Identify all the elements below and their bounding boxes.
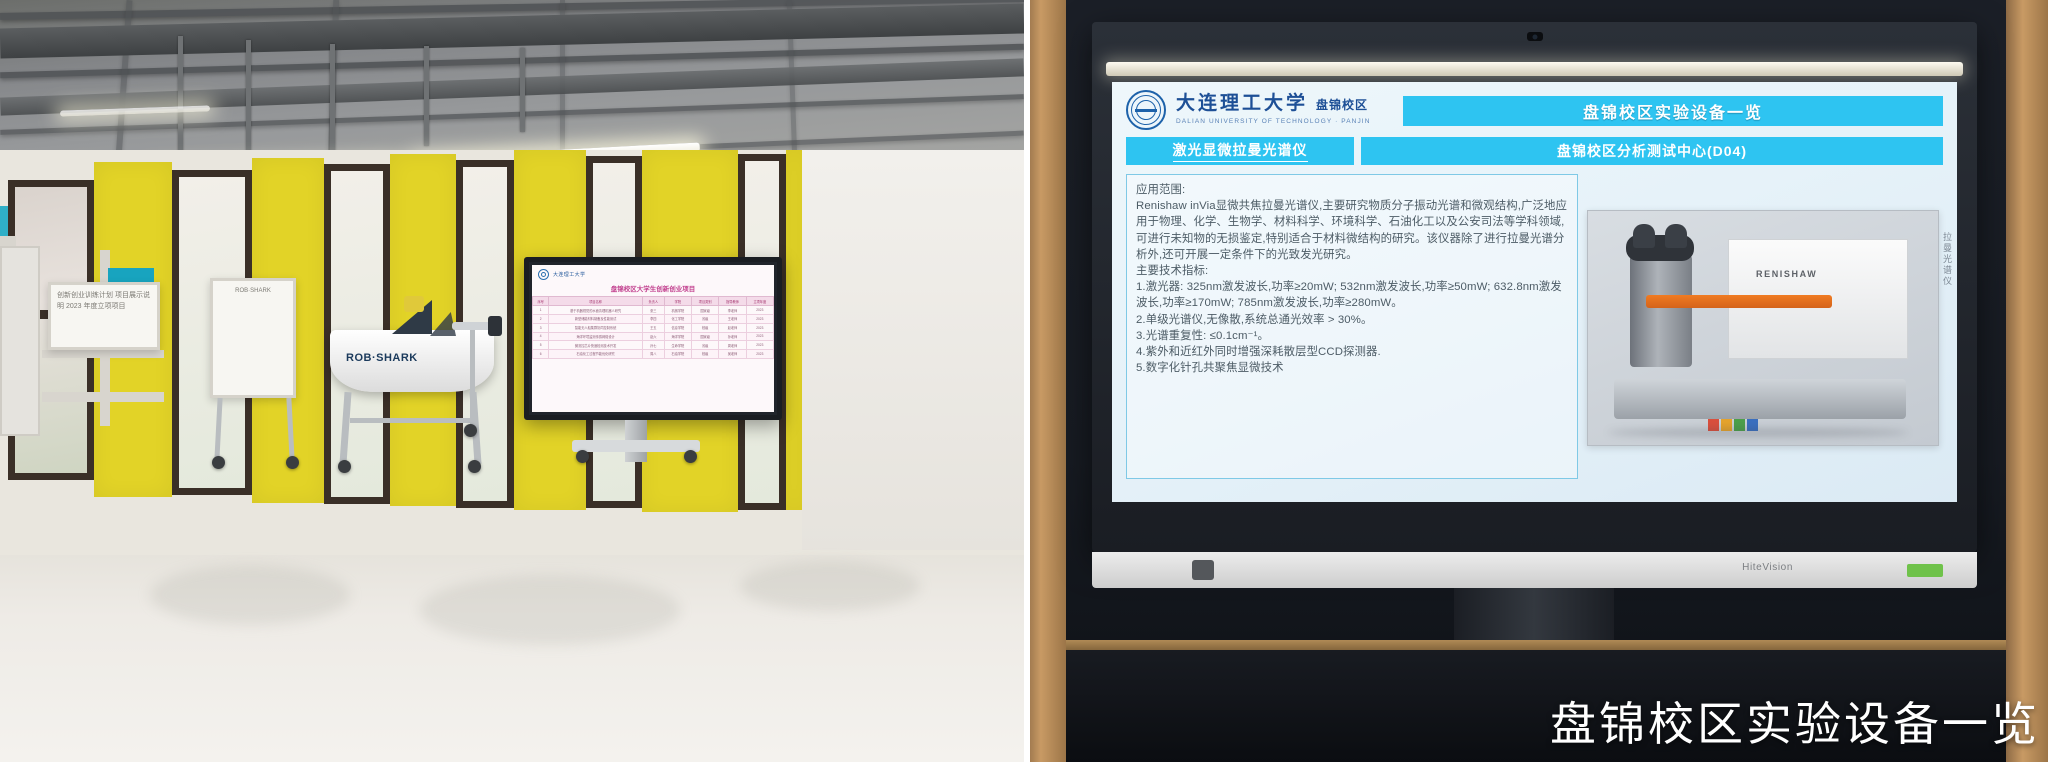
caster-wheel: [286, 456, 299, 469]
table-cell: 石油学院: [664, 350, 691, 359]
table-cell: 张三: [642, 306, 664, 315]
robot-boat-label: ROB·SHARK: [346, 352, 418, 364]
left-wall-display[interactable]: 大连理工大学 盘锦校区大学生创新创业项目 序号项目名称负责人学院项目类别指导教师…: [524, 257, 782, 420]
hanging-rod: [246, 40, 251, 164]
project-table-col: 项目类别: [692, 297, 719, 306]
table-row: 1基于机器视觉的水面清理机器人研究张三机械学院国家级李老师2023: [533, 306, 774, 315]
project-table-col: 负责人: [642, 297, 664, 306]
slide-title-text: 盘锦校区实验设备一览: [1583, 99, 1763, 123]
board-brand-label: HiteVision: [1742, 562, 1793, 573]
caster-wheel: [576, 450, 589, 463]
table-cell: 2023: [746, 350, 773, 359]
table-cell: 6: [533, 350, 549, 359]
table-cell: 吴老师: [719, 350, 746, 359]
table-row: 3智能无人船集群协同控制系统王五信息学院校级赵老师2023: [533, 323, 774, 332]
university-crest-icon: [1126, 90, 1166, 130]
left-display-title: 盘锦校区大学生创新创业项目: [532, 282, 774, 296]
status-indicator: [1907, 564, 1943, 577]
table-row: 6石油化工过程节能优化研究周八石油学院校级吴老师2023: [533, 350, 774, 359]
project-table-col: 项目名称: [549, 297, 643, 306]
table-cell: 2023: [746, 332, 773, 341]
table-cell: 国家级: [692, 332, 719, 341]
caster-wheel: [212, 456, 225, 469]
table-cell: 2023: [746, 323, 773, 332]
table-row: 5微流控芯片快速检测技术开发孙七生命学院省级周老师2023: [533, 341, 774, 350]
equipment-name-text: 激光显微拉曼光谱仪: [1173, 140, 1308, 162]
table-cell: 生命学院: [664, 341, 691, 350]
left-display-screen: 大连理工大学 盘锦校区大学生创新创业项目 序号项目名称负责人学院项目类别指导教师…: [532, 265, 774, 412]
location-banner: 盘锦校区分析测试中心(D04): [1361, 137, 1943, 165]
university-name-en: DALIAN UNIVERSITY OF TECHNOLOGY · PANJIN: [1176, 118, 1371, 125]
caption-right: 盘锦校区实验设备一览: [1550, 688, 2040, 754]
trolley-crossbar: [350, 418, 472, 423]
table-cell: 3: [533, 323, 549, 332]
cabinet: [0, 246, 40, 436]
table-cell: 孙老师: [719, 332, 746, 341]
project-table-col: 指导教师: [719, 297, 746, 306]
presentation-slide[interactable]: 大连理工大学盘锦校区 DALIAN UNIVERSITY OF TECHNOLO…: [1112, 82, 1957, 502]
classroom-wall: [0, 150, 1024, 570]
table-row: 4海洋环境监测传感网络设计赵六海洋学院国家级孙老师2023: [533, 332, 774, 341]
floor-reflection: [740, 561, 920, 611]
right-photo-smartboard-room: 大连理工大学盘锦校区 DALIAN UNIVERSITY OF TECHNOLO…: [1024, 0, 2048, 762]
project-table-col: 立项年度: [746, 297, 773, 306]
slide-body-text: 应用范围:Renishaw inVia显微共焦拉曼光谱仪,主要研究物质分子振动光…: [1136, 182, 1568, 376]
smartboard-control-bar[interactable]: HiteVision: [1092, 552, 1977, 588]
hanging-rod: [330, 44, 335, 156]
microscope-eyepiece: [1626, 235, 1694, 261]
table-cell: 新型储能材料制备及性能测试: [549, 314, 643, 323]
table-cell: 2: [533, 314, 549, 323]
table-cell: 机械学院: [664, 306, 691, 315]
table-cell: 信息学院: [664, 323, 691, 332]
table-cell: 省级: [692, 341, 719, 350]
project-table-col: 学院: [664, 297, 691, 306]
table-cell: 2023: [746, 341, 773, 350]
project-table: 序号项目名称负责人学院项目类别指导教师立项年度 1基于机器视觉的水面清理机器人研…: [532, 296, 774, 359]
floor-reflection: [420, 575, 680, 645]
table-cell: 周八: [642, 350, 664, 359]
board-lightbar: [1106, 62, 1963, 76]
table-cell: 赵六: [642, 332, 664, 341]
table-cell: 微流控芯片快速检测技术开发: [549, 341, 643, 350]
table-cell: 2023: [746, 314, 773, 323]
instrument-shadow: [1608, 428, 1908, 437]
left-display-header: 大连理工大学: [532, 265, 774, 282]
left-photo-innovation-zone: 创新创业训练计划 项目展示说明 2023 年度立项项目 ROB·SHARK RO…: [0, 0, 1024, 762]
caster-wheel: [338, 460, 351, 473]
slide-title-banner: 盘锦校区实验设备一览: [1403, 96, 1943, 126]
table-cell: 李老师: [719, 306, 746, 315]
panel-divider: [1024, 0, 1030, 762]
far-wall: [802, 150, 1024, 550]
instrument-orange-bar: [1646, 295, 1832, 308]
robot-boat-marker: [404, 296, 424, 312]
floor: [0, 555, 1024, 762]
table-cell: 周老师: [719, 341, 746, 350]
hanging-rod: [424, 46, 429, 146]
dual-photo-composite: 创新创业训练计划 项目展示说明 2023 年度立项项目 ROB·SHARK RO…: [0, 0, 2048, 762]
university-logo-icon: [538, 269, 549, 280]
table-cell: 智能无人船集群协同控制系统: [549, 323, 643, 332]
university-identity: 大连理工大学盘锦校区 DALIAN UNIVERSITY OF TECHNOLO…: [1176, 94, 1371, 125]
wood-frame-right: [2006, 0, 2048, 762]
caster-wheel: [684, 450, 697, 463]
table-cell: 2023: [746, 306, 773, 315]
university-name-cn: 大连理工大学盘锦校区: [1176, 94, 1371, 115]
table-cell: 石油化工过程节能优化研究: [549, 350, 643, 359]
table-cell: 王老师: [719, 314, 746, 323]
hanging-rod: [520, 48, 525, 132]
shelf-frame: [42, 350, 164, 358]
location-text: 盘锦校区分析测试中心(D04): [1557, 141, 1747, 161]
table-cell: 国家级: [692, 306, 719, 315]
table-cell: 1: [533, 306, 549, 315]
robot-arm-post: [470, 330, 475, 426]
wood-frame-left: [1024, 0, 1066, 762]
table-cell: 校级: [692, 350, 719, 359]
easel-poster: ROB·SHARK: [210, 278, 296, 398]
robot-arm-head: [488, 316, 502, 336]
project-table-body: 1基于机器视觉的水面清理机器人研究张三机械学院国家级李老师20232新型储能材料…: [533, 306, 774, 359]
campus-name: 盘锦校区: [1316, 98, 1368, 112]
slide-side-strip: 拉曼光谱仪: [1937, 232, 1953, 287]
table-cell: 海洋环境监测传感网络设计: [549, 332, 643, 341]
slide-subheader-row: 激光显微拉曼光谱仪 盘锦校区分析测试中心(D04): [1126, 137, 1943, 165]
caster-wheel: [468, 460, 481, 473]
slide-body-box: 应用范围:Renishaw inVia显微共焦拉曼光谱仪,主要研究物质分子振动光…: [1126, 174, 1578, 479]
smartboard-bezel: 大连理工大学盘锦校区 DALIAN UNIVERSITY OF TECHNOLO…: [1092, 22, 1977, 552]
table-cell: 省级: [692, 314, 719, 323]
camera-icon: [1527, 32, 1543, 41]
table-cell: 基于机器视觉的水面清理机器人研究: [549, 306, 643, 315]
table-cell: 化工学院: [664, 314, 691, 323]
table-cell: 赵老师: [719, 323, 746, 332]
equipment-photo: RENISHAW: [1587, 210, 1939, 446]
table-cell: 李四: [642, 314, 664, 323]
equipment-name-banner: 激光显微拉曼光谱仪: [1126, 137, 1354, 165]
project-table-header-row: 序号项目名称负责人学院项目类别指导教师立项年度: [533, 297, 774, 306]
poster-board-text: 创新创业训练计划 项目展示说明 2023 年度立项项目: [51, 285, 157, 318]
project-table-col: 序号: [533, 297, 549, 306]
display-stand-base: [572, 440, 700, 452]
table-cell: 孙七: [642, 341, 664, 350]
microscope-column: [1630, 255, 1692, 367]
power-knob[interactable]: [1192, 560, 1214, 580]
table-cell: 校级: [692, 323, 719, 332]
instrument-brand-label: RENISHAW: [1756, 269, 1817, 279]
table-cell: 王五: [642, 323, 664, 332]
yellow-wall-panel: [786, 150, 802, 510]
table-cell: 海洋学院: [664, 332, 691, 341]
poster-board: 创新创业训练计划 项目展示说明 2023 年度立项项目: [48, 282, 160, 350]
table-cell: 5: [533, 341, 549, 350]
instrument-base: [1614, 379, 1906, 419]
university-name: 大连理工大学: [553, 271, 585, 278]
easel-poster-text: ROB·SHARK: [213, 281, 293, 302]
table-row: 2新型储能材料制备及性能测试李四化工学院省级王老师2023: [533, 314, 774, 323]
table-cell: 4: [533, 332, 549, 341]
floor-reflection: [150, 565, 350, 625]
caster-wheel: [464, 424, 477, 437]
shelf-frame: [42, 392, 164, 402]
